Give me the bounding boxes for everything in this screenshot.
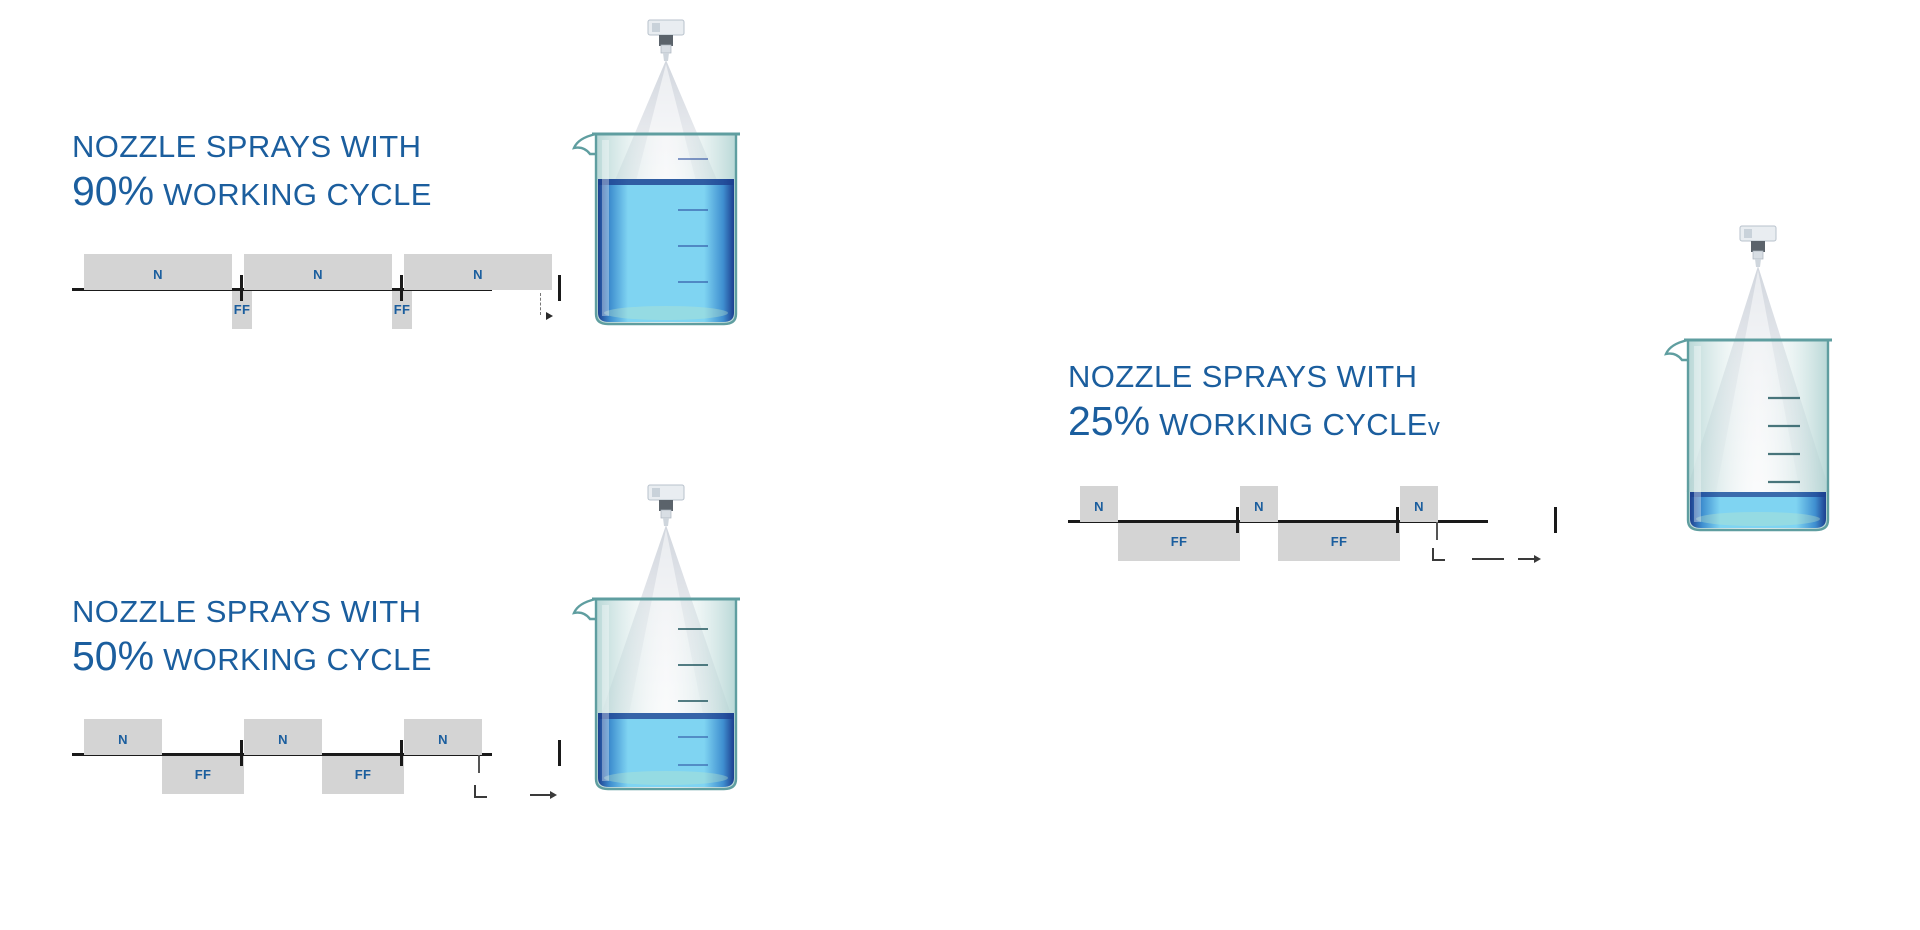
on-block-25-3: N	[1400, 486, 1438, 522]
off-block-50-1: FF	[162, 756, 244, 794]
panel-90-percent: NOZZLE SPRAYS WITH 90% WORKING CYCLE N N…	[0, 0, 960, 465]
axis-tick-25-2	[1396, 507, 1399, 533]
on-block-50-2: N	[244, 719, 322, 755]
on-block-90-3-label: N	[473, 267, 483, 282]
on-block-50-1-label: N	[118, 732, 128, 747]
headline-25-rest: WORKING CYCLE	[1159, 407, 1428, 442]
off-block-25-2: FF	[1278, 523, 1400, 561]
headline-50-rest: WORKING CYCLE	[163, 642, 432, 677]
off-block-25-2-label: FF	[1331, 534, 1347, 549]
headline-25-line1: NOZZLE SPRAYS WITH	[1068, 360, 1440, 395]
headline-50-line1: NOZZLE SPRAYS WITH	[72, 595, 432, 630]
off-block-50-2-label: FF	[355, 767, 371, 782]
time-axis-marker-25	[1432, 548, 1572, 564]
headline-50-line2: 50% WORKING CYCLE	[72, 634, 432, 680]
nozzle-icon-50	[648, 485, 684, 526]
on-block-90-3: N	[404, 254, 552, 290]
axis-tick-50-2	[400, 740, 403, 766]
time-marker-dash-25	[1472, 558, 1504, 560]
axis-tick-50-1	[240, 740, 243, 766]
on-block-90-2: N	[244, 254, 392, 290]
on-block-90-1-label: N	[153, 267, 163, 282]
on-block-50-3-label: N	[438, 732, 448, 747]
beaker-assembly-50	[556, 479, 776, 799]
on-block-25-2: N	[1240, 486, 1278, 522]
headline-25-suffix: v	[1428, 414, 1440, 441]
axis-tick-90-1	[240, 275, 243, 301]
timing-diagram-90: N N N FF FF	[72, 248, 492, 338]
on-block-50-3: N	[404, 719, 482, 755]
timing-diagram-50: N N N FF FF	[72, 713, 492, 813]
arrow-right-icon-25	[1534, 555, 1541, 563]
off-block-25-1: FF	[1118, 523, 1240, 561]
on-block-90-2-label: N	[313, 267, 323, 282]
beaker-svg-25	[1648, 220, 1868, 540]
nozzle-icon-25	[1740, 226, 1776, 267]
headline-90-line2: 90% WORKING CYCLE	[72, 169, 432, 215]
headline-90: NOZZLE SPRAYS WITH 90% WORKING CYCLE	[72, 130, 432, 215]
liquid-90	[598, 179, 734, 322]
headline-90-line1: NOZZLE SPRAYS WITH	[72, 130, 432, 165]
on-block-90-1: N	[84, 254, 232, 290]
off-block-50-2: FF	[322, 756, 404, 794]
off-block-50-1-label: FF	[195, 767, 211, 782]
axis-tick-25-minor	[1436, 522, 1438, 540]
axis-tick-90-2	[400, 275, 403, 301]
time-marker-corner-50	[474, 785, 487, 798]
on-block-25-1-label: N	[1094, 499, 1104, 514]
on-block-25-2-label: N	[1254, 499, 1264, 514]
axis-tick-50-minor	[478, 755, 480, 773]
headline-25: NOZZLE SPRAYS WITH 25% WORKING CYCLEv	[1068, 360, 1440, 445]
panel-50-percent: NOZZLE SPRAYS WITH 50% WORKING CYCLE N N…	[0, 465, 960, 930]
headline-25-percent: 25%	[1068, 398, 1150, 444]
on-block-25-3-label: N	[1414, 499, 1424, 514]
beaker-svg-90	[556, 14, 776, 334]
off-block-90-2-label: FF	[394, 302, 410, 317]
beaker-assembly-25	[1648, 220, 1868, 540]
on-block-25-1: N	[1080, 486, 1118, 522]
off-block-90-1-label: FF	[234, 302, 250, 317]
beaker-svg-50	[556, 479, 776, 799]
on-block-50-2-label: N	[278, 732, 288, 747]
time-marker-corner-25	[1432, 548, 1445, 561]
beaker-assembly-90	[556, 14, 776, 334]
headline-90-percent: 90%	[72, 168, 154, 214]
off-block-25-1-label: FF	[1171, 534, 1187, 549]
axis-tick-25-3	[1554, 507, 1557, 533]
headline-90-rest: WORKING CYCLE	[163, 177, 432, 212]
on-block-50-1: N	[84, 719, 162, 755]
headline-50: NOZZLE SPRAYS WITH 50% WORKING CYCLE	[72, 595, 432, 680]
axis-tick-25-1	[1236, 507, 1239, 533]
headline-25-line2: 25% WORKING CYCLEv	[1068, 399, 1440, 445]
time-marker-dash-90	[540, 293, 541, 315]
headline-50-percent: 50%	[72, 633, 154, 679]
time-arrow-90	[546, 312, 553, 320]
panel-25-percent: NOZZLE SPRAYS WITH 25% WORKING CYCLEv N …	[960, 230, 1920, 700]
time-marker-arrow-line-50	[530, 794, 552, 796]
nozzle-icon-90	[648, 20, 684, 61]
timing-diagram-25: N N N FF FF	[1068, 480, 1488, 580]
